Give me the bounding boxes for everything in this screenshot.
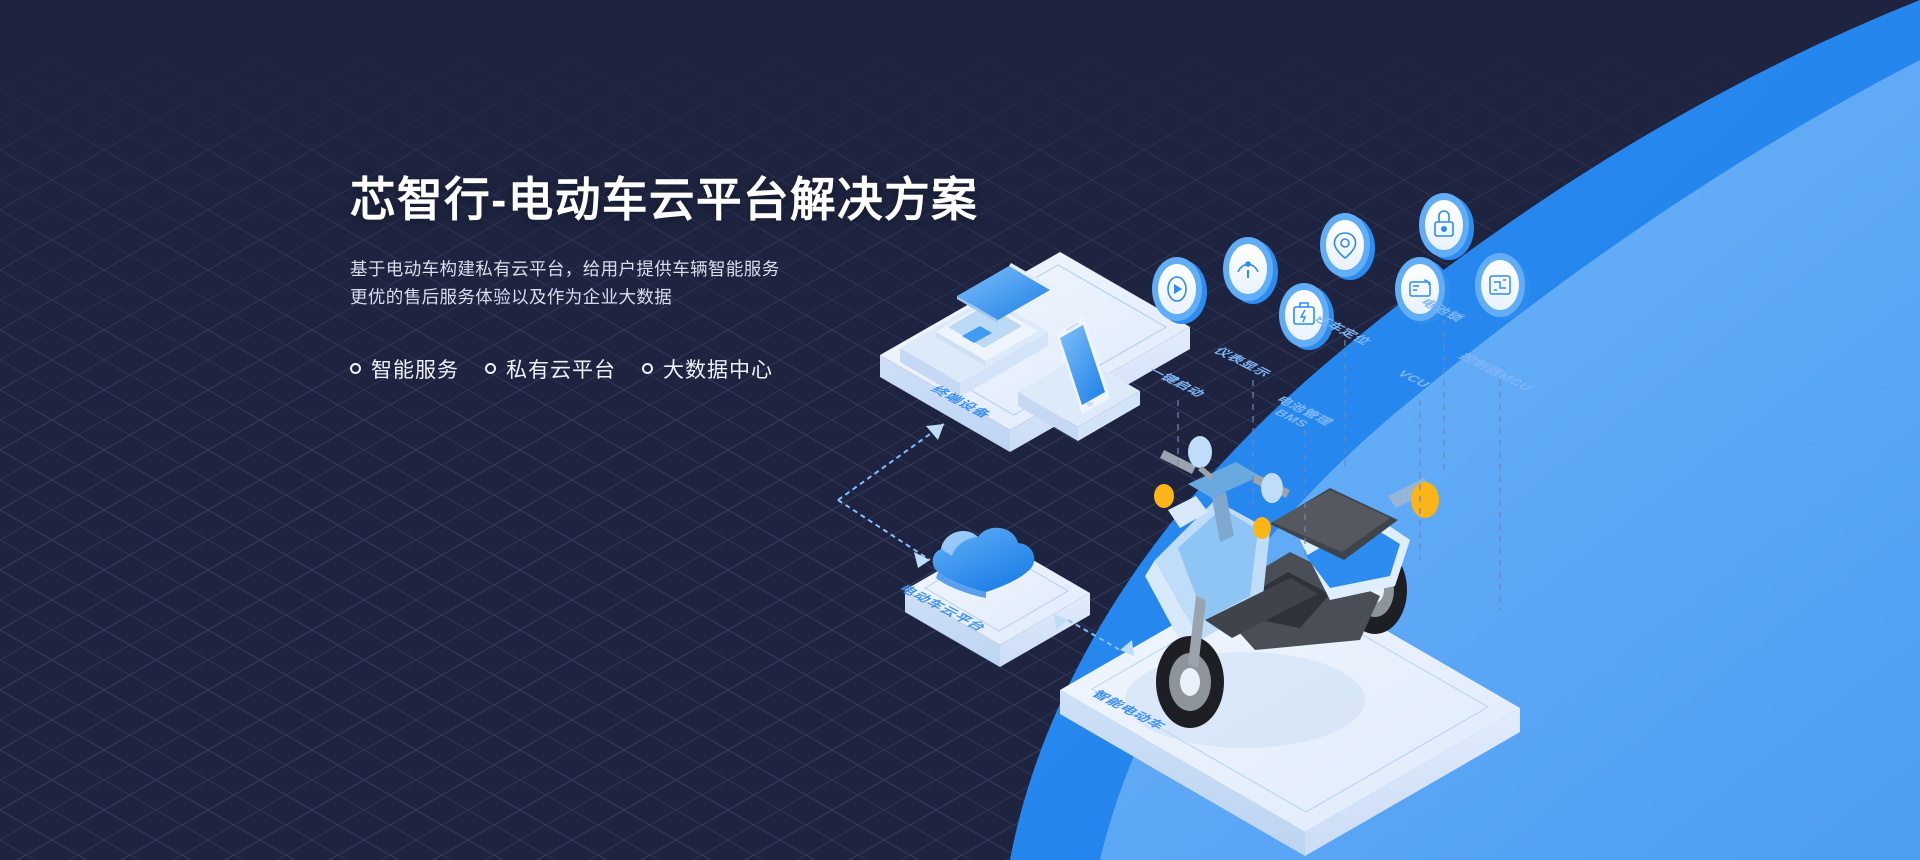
circle-outline-icon xyxy=(642,363,653,374)
hero-description: 基于电动车构建私有云平台，给用户提供车辆智能服务 更优的售后服务体验以及作为企业… xyxy=(350,255,1110,312)
circle-outline-icon xyxy=(485,363,496,374)
feature-label: 智能服务 xyxy=(371,354,459,384)
background-art xyxy=(0,0,1920,860)
hero-copy: 芯智行-电动车云平台解决方案 基于电动车构建私有云平台，给用户提供车辆智能服务 … xyxy=(350,175,1110,384)
feature-label: 私有云平台 xyxy=(506,354,616,384)
page-title: 芯智行-电动车云平台解决方案 xyxy=(350,175,1087,225)
feature-label: 大数据中心 xyxy=(663,354,773,384)
feature-item-big-data-center[interactable]: 大数据中心 xyxy=(642,354,773,384)
hero-description-line-2: 更优的售后服务体验以及作为企业大数据 xyxy=(350,283,1110,311)
hero-banner: 芯智行-电动车云平台解决方案 基于电动车构建私有云平台，给用户提供车辆智能服务 … xyxy=(0,0,1920,860)
feature-item-private-cloud[interactable]: 私有云平台 xyxy=(485,354,616,384)
circle-outline-icon xyxy=(350,363,361,374)
hero-description-line-1: 基于电动车构建私有云平台，给用户提供车辆智能服务 xyxy=(350,255,1110,283)
feature-list: 智能服务 私有云平台 大数据中心 xyxy=(350,354,1110,384)
feature-item-smart-service[interactable]: 智能服务 xyxy=(350,354,459,384)
